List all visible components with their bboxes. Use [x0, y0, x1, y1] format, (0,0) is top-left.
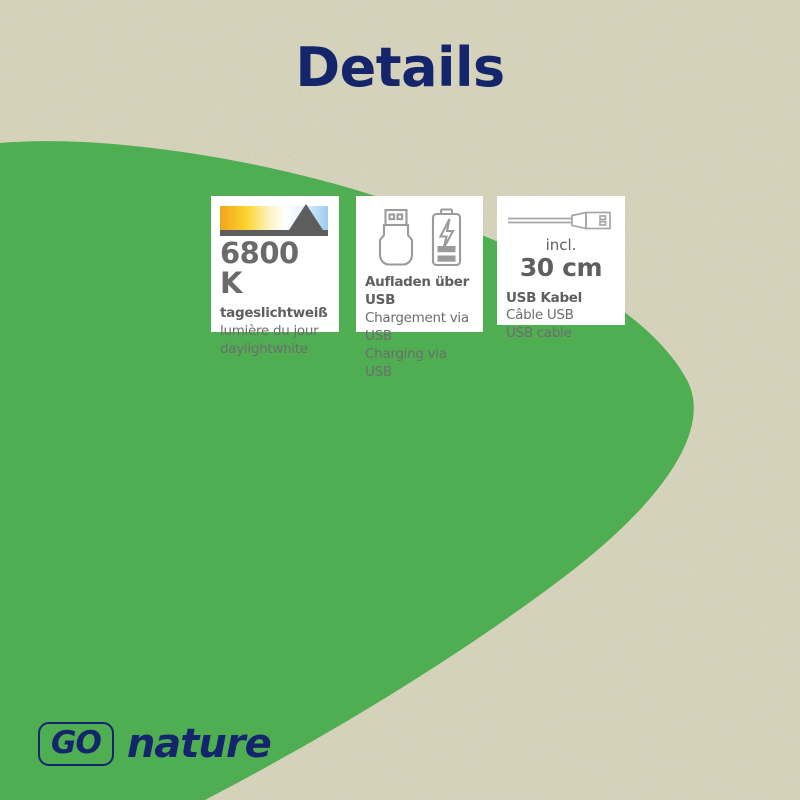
battery-charging-icon: [429, 208, 465, 268]
usb-plug-icon: [375, 208, 417, 268]
green-blob-shape: [0, 0, 800, 800]
card-label-de: USB Kabel: [506, 290, 616, 308]
card-label-fr: Câble USB: [506, 307, 616, 325]
page-title: Details: [0, 36, 800, 99]
incl-label: incl.: [506, 237, 616, 254]
logo-go-badge: GO: [38, 722, 114, 766]
card-label-en: Charging via USB: [365, 346, 474, 382]
card-label-de: tageslichtweiß: [220, 305, 330, 323]
card-label-en: USB cable: [506, 325, 616, 343]
card-label-en: daylightwhite: [220, 341, 330, 359]
color-temperature-gradient-bar: [220, 206, 328, 236]
usb-cable-icon: [506, 211, 616, 233]
kelvin-value: 6800 K: [220, 239, 330, 298]
cable-length-value: 30 cm: [506, 254, 616, 282]
card-usb-charging[interactable]: Aufladen über USB Chargement via USB Cha…: [356, 196, 483, 332]
brand-logo[interactable]: GO nature: [38, 722, 271, 766]
card-label-fr: lumière du jour: [220, 323, 330, 341]
charging-icons-row: [365, 208, 474, 270]
logo-go-text: GO: [51, 728, 101, 759]
card-label-de: Aufladen über USB: [365, 274, 474, 310]
temperature-marker-triangle-icon: [289, 204, 323, 230]
card-color-temperature[interactable]: 6800 K tageslichtweiß lumière du jour da…: [211, 196, 339, 332]
logo-nature-text: nature: [127, 724, 271, 764]
gradient-bar-baseline: [220, 230, 328, 236]
cable-icon-row: [506, 210, 616, 234]
card-label-fr: Chargement via USB: [365, 310, 474, 346]
card-usb-cable[interactable]: incl. 30 cm USB Kabel Câble USB USB cabl…: [497, 196, 625, 325]
